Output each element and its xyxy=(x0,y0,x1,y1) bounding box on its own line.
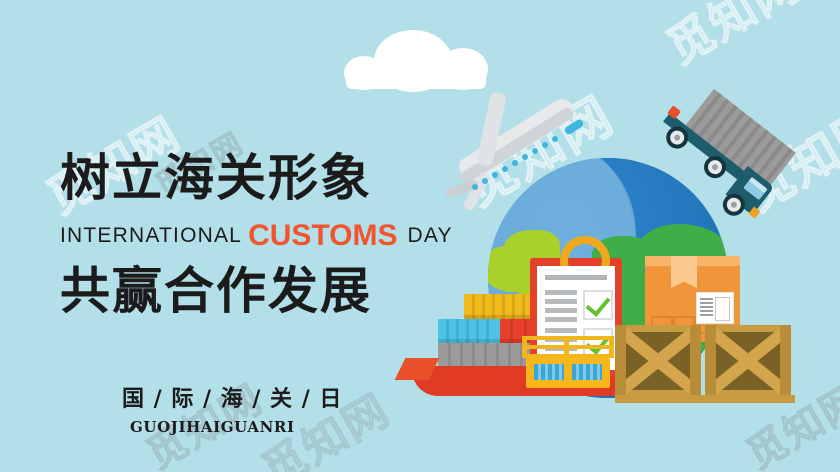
wooden-crates-icon xyxy=(615,325,795,397)
airplane-icon xyxy=(440,102,590,212)
page-title-line1: 树立海关形象 xyxy=(60,150,372,206)
subtitle-line: INTERNATIONALCUSTOMSDAY xyxy=(60,219,453,253)
container-blue xyxy=(438,319,500,343)
check-icon xyxy=(586,291,611,317)
shipping-label xyxy=(696,292,734,324)
wooden-crate xyxy=(615,325,701,397)
page-title-line2: 共赢合作发展 xyxy=(60,263,372,319)
forklift-pallet-icon xyxy=(522,336,614,390)
footer-chinese-label: 国 / 际 / 海 / 关 / 日 xyxy=(122,381,342,413)
checkbox xyxy=(583,290,613,320)
subtitle-highlight: CUSTOMS xyxy=(242,219,403,252)
cloud-icon xyxy=(344,30,488,80)
wooden-crate xyxy=(705,325,791,397)
subtitle-prefix: INTERNATIONAL xyxy=(60,224,242,247)
poster-canvas: 觅知网 觅知网 觅知网 觅知网 觅知网 觅知网 觅知网 觅知网 觅知网 树立海关… xyxy=(0,0,840,472)
watermark-text: 觅知网 xyxy=(653,0,811,78)
customs-illustration xyxy=(400,80,840,425)
footer-pinyin-label: GUOJIHAIGUANRI xyxy=(130,418,295,436)
